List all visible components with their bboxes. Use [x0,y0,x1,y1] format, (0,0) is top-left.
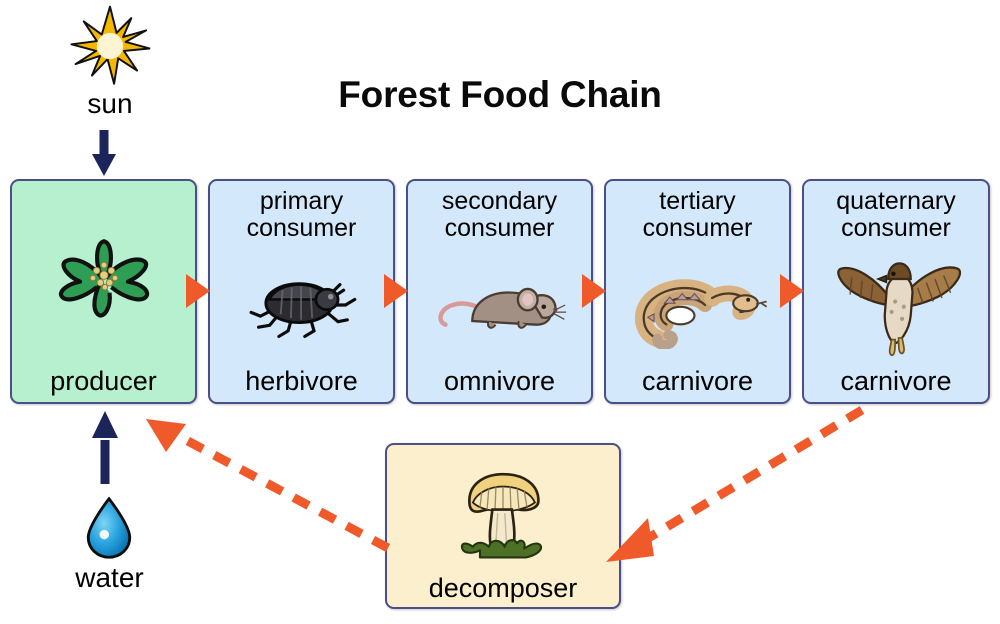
chain-box-bottom-label: carnivore [840,367,951,396]
decomposer-to-producer-arrow [146,419,388,548]
snake-icon [610,242,785,367]
chain-box-bottom-label: carnivore [642,367,753,396]
chain-box-primary-consumer[interactable]: primary consumer herbivore [208,179,395,404]
chain-box-decomposer[interactable]: decomposer [385,443,621,609]
chain-box-top-label: secondary consumer [442,188,557,242]
chain-box-bottom-label: herbivore [245,367,358,396]
sun-to-producer-arrow [92,130,116,176]
tertiary-to-quaternary-arrow [780,274,804,308]
chain-box-bottom-label: omnivore [444,367,555,396]
beetle-icon [214,242,389,367]
page-title: Forest Food Chain [270,74,730,116]
chain-box-bottom-label: producer [50,367,157,396]
hawk-icon [808,242,984,367]
chain-box-top-label: primary consumer [247,188,357,242]
primary-to-secondary-arrow [384,274,408,308]
secondary-to-tertiary-arrow [582,274,606,308]
chain-box-top-label: quaternary consumer [836,188,956,242]
flower-plant-icon [16,188,191,367]
chain-box-secondary-consumer[interactable]: secondary consumer omnivore [406,179,593,404]
chain-box-top-label: tertiary consumer [643,188,753,242]
mushroom-icon [391,453,615,574]
mouse-icon [412,242,587,367]
water-drop-icon [78,495,140,561]
water-label: water [42,562,177,594]
chain-box-quaternary-consumer[interactable]: quaternary consumer [802,179,990,404]
chain-box-tertiary-consumer[interactable]: tertiary consumer [604,179,791,404]
producer-to-primary-arrow [186,274,210,308]
sun-icon [60,5,160,87]
quaternary-to-decomposer-arrow [606,410,862,562]
chain-box-producer[interactable]: producer [10,179,197,404]
decomposer-label: decomposer [429,574,578,603]
sun-label: sun [45,88,175,120]
forest-food-chain-diagram: Forest Food Chain sun water [0,0,1000,624]
water-to-producer-arrow [92,411,118,484]
